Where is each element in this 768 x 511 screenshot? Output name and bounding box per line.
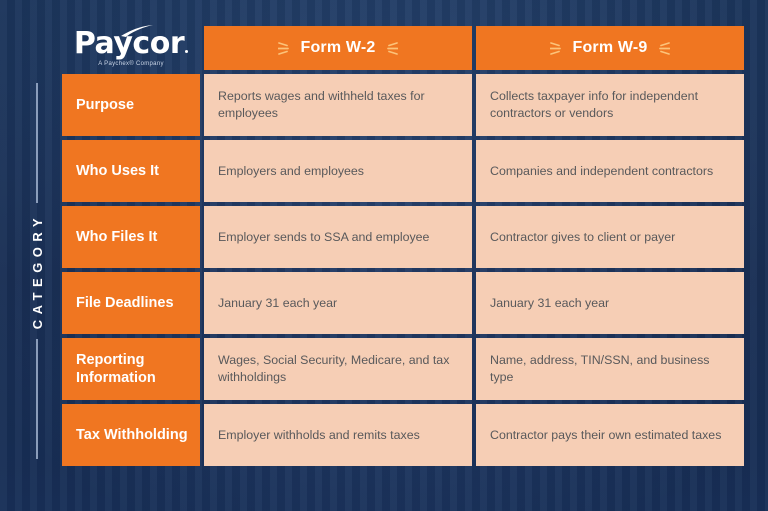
row-cell-w2: Employer withholds and remits taxes xyxy=(204,404,472,466)
spark-burst-icon xyxy=(383,40,398,57)
rail-line-top xyxy=(36,83,38,203)
row-cell-w2: Reports wages and withheld taxes for emp… xyxy=(204,74,472,136)
comparison-table: Form W-2 Form W-9 xyxy=(62,26,744,466)
row-cell-w9: Contractor pays their own estimated taxe… xyxy=(476,404,744,466)
row-cell-w9: Contractor gives to client or payer xyxy=(476,206,744,268)
logo-dot-icon xyxy=(185,50,188,53)
row-cell-w9: Collects taxpayer info for independent c… xyxy=(476,74,744,136)
row-category-label: Reporting Information xyxy=(62,338,200,400)
header-form-w2-label: Form W-2 xyxy=(300,39,375,57)
rail-line-bottom xyxy=(36,339,38,459)
logo-wordmark: Paycor xyxy=(74,29,188,59)
header-form-w9: Form W-9 xyxy=(476,26,744,70)
spark-burst-icon xyxy=(278,40,293,57)
category-rail: CATEGORY xyxy=(22,62,52,480)
table-row: Who Uses It Employers and employees Comp… xyxy=(62,140,744,202)
row-cell-w2: Employers and employees xyxy=(204,140,472,202)
paycor-logo: Paycor A Paychex® Company xyxy=(62,26,200,70)
spark-burst-icon xyxy=(655,40,670,57)
row-cell-w9: Companies and independent contractors xyxy=(476,140,744,202)
row-cell-w2: Employer sends to SSA and employee xyxy=(204,206,472,268)
category-rail-label: CATEGORY xyxy=(30,213,45,329)
table-row: Reporting Information Wages, Social Secu… xyxy=(62,338,744,400)
swoosh-icon xyxy=(120,24,154,38)
table-row: File Deadlines January 31 each year Janu… xyxy=(62,272,744,334)
table-row: Who Files It Employer sends to SSA and e… xyxy=(62,206,744,268)
table-row: Tax Withholding Employer withholds and r… xyxy=(62,404,744,466)
spark-burst-icon xyxy=(550,40,565,57)
row-cell-w2: January 31 each year xyxy=(204,272,472,334)
row-cell-w9: January 31 each year xyxy=(476,272,744,334)
table-row: Purpose Reports wages and withheld taxes… xyxy=(62,74,744,136)
row-category-label: File Deadlines xyxy=(62,272,200,334)
row-category-label: Purpose xyxy=(62,74,200,136)
header-form-w2: Form W-2 xyxy=(204,26,472,70)
row-cell-w2: Wages, Social Security, Medicare, and ta… xyxy=(204,338,472,400)
logo-tagline: A Paychex® Company xyxy=(98,61,164,67)
row-cell-w9: Name, address, TIN/SSN, and business typ… xyxy=(476,338,744,400)
row-category-label: Tax Withholding xyxy=(62,404,200,466)
row-category-label: Who Files It xyxy=(62,206,200,268)
header-form-w9-label: Form W-9 xyxy=(572,39,647,57)
row-category-label: Who Uses It xyxy=(62,140,200,202)
comparison-infographic: CATEGORY Form W-2 xyxy=(0,0,768,511)
